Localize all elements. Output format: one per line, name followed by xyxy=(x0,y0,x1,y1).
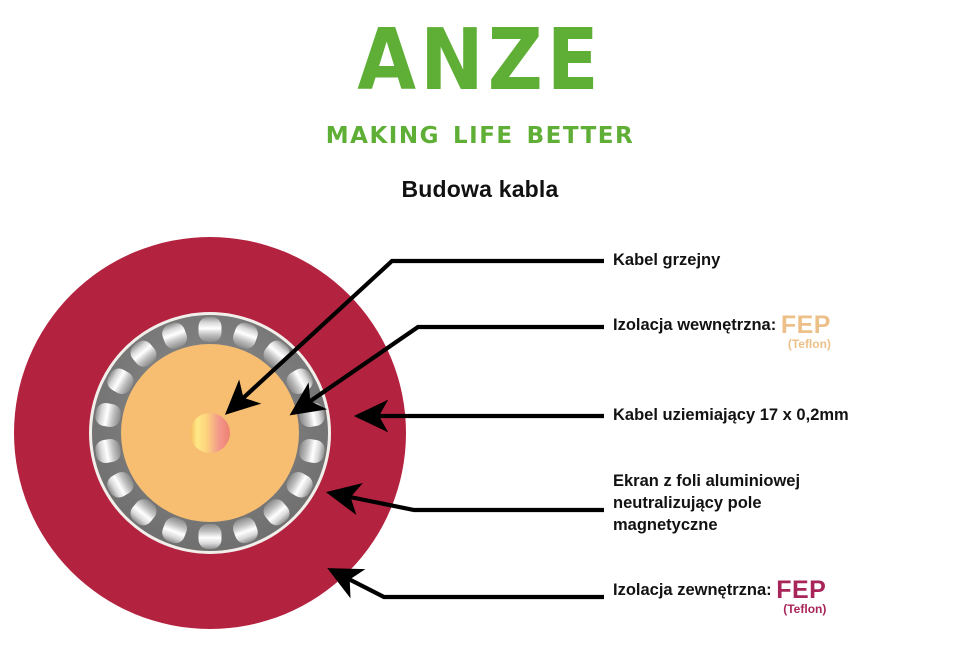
callout-ekran-foli-aluminiowej: Ekran z foli aluminiowej neutralizujący … xyxy=(613,470,913,536)
page-title: Budowa kabla xyxy=(0,176,960,203)
callout-ekran-line-3: magnetyczne xyxy=(613,514,913,536)
callout-izolacja-wewnetrzna: Izolacja wewnętrzna: FEP (Teflon) xyxy=(613,314,831,355)
callout-kabel-grzejny-label: Kabel grzejny xyxy=(613,251,720,269)
fep-badge-inner-subtext: (Teflon) xyxy=(781,333,831,355)
anze-logo-wordmark: ANZE xyxy=(0,14,960,106)
callout-ekran-line-1: Ekran z foli aluminiowej xyxy=(613,470,913,492)
cable-cross-section-svg xyxy=(10,233,410,633)
brand-header: ANZE Making Life Better xyxy=(0,14,960,150)
callout-kabel-uziemiajacy-label: Kabel uziemiający 17 x 0,2mm xyxy=(613,406,849,424)
brand-tagline: Making Life Better xyxy=(0,114,960,150)
callout-izolacja-zewnetrzna: Izolacja zewnętrzna: FEP (Teflon) xyxy=(613,579,826,620)
heating-core xyxy=(190,413,230,453)
callout-kabel-grzejny: Kabel grzejny xyxy=(613,249,720,271)
callout-izolacja-wewnetrzna-label: Izolacja wewnętrzna: xyxy=(613,316,776,334)
callout-izolacja-zewnetrzna-label: Izolacja zewnętrzna: xyxy=(613,581,772,599)
callout-ekran-line-2: neutralizujący pole xyxy=(613,492,913,514)
fep-badge-outer: FEP (Teflon) xyxy=(776,579,826,620)
callout-kabel-uziemiajacy: Kabel uziemiający 17 x 0,2mm xyxy=(613,404,849,426)
braid-strand xyxy=(199,317,222,342)
fep-badge-outer-subtext: (Teflon) xyxy=(776,598,826,620)
fep-badge-inner: FEP (Teflon) xyxy=(781,314,831,355)
braid-strand xyxy=(199,524,222,549)
cable-cross-section-diagram xyxy=(10,233,410,633)
